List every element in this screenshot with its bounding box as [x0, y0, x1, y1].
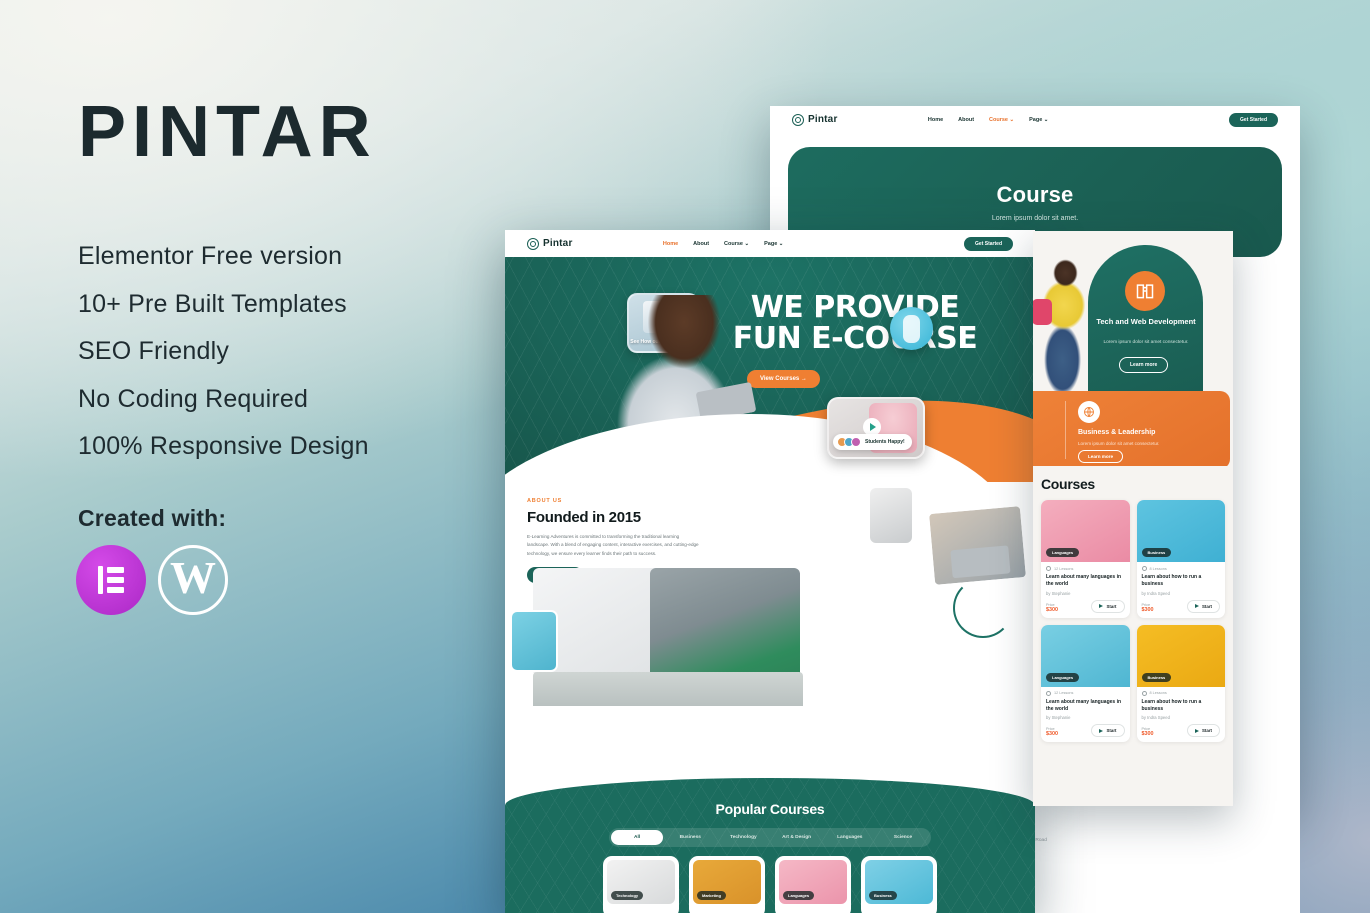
course-lessons: 8 Lessons — [1142, 566, 1221, 571]
course-price: $300 — [1142, 731, 1154, 737]
about-photo-blue-kid — [510, 610, 558, 672]
created-with-logos: W — [76, 545, 228, 615]
course-card[interactable]: Languages 12 Lessons Learn about many la… — [1041, 625, 1130, 743]
start-course-button[interactable]: Start — [1091, 600, 1124, 613]
course-tag: Business — [1142, 673, 1172, 682]
feature-list: Elementor Free version 10+ Pre Built Tem… — [78, 238, 498, 466]
courses-section: Courses Languages 12 Lessons Learn about… — [1033, 466, 1233, 750]
view-courses-button[interactable]: View Courses → — [747, 370, 820, 388]
play-icon — [1099, 604, 1103, 608]
page-title: PINTAR — [78, 96, 498, 168]
site-logo-front[interactable]: Pintar — [527, 238, 573, 250]
site-logo-text: Pintar — [543, 238, 573, 249]
nav-links-front: Home About Course ⌄ Page ⌄ — [663, 241, 784, 247]
tech-category-subtitle: Lorem ipsum dolor sit amet consectetur. — [1088, 339, 1204, 347]
start-course-button[interactable]: Start — [1091, 724, 1124, 737]
lessons-label: 12 Lessons — [1054, 567, 1073, 571]
course-lessons: 8 Lessons — [1142, 691, 1221, 696]
nav-link-course[interactable]: Course ⌄ — [724, 241, 749, 247]
lessons-label: 8 Lessons — [1150, 567, 1167, 571]
students-happy-badge: Students Happy! — [833, 434, 912, 450]
course-tag: Languages — [1046, 548, 1079, 557]
lessons-icon — [1046, 566, 1051, 571]
course-thumbnail: Languages — [1041, 625, 1130, 687]
created-with-label: Created with: — [78, 505, 226, 532]
business-learn-more-button[interactable]: Learn more — [1078, 450, 1123, 463]
course-tag: Technology — [611, 891, 643, 900]
about-photo-kid-laptop — [927, 504, 1028, 587]
course-title: Learn about how to run a business — [1142, 699, 1221, 714]
category-cards-section: Tech and Web Development Lorem ipsum dol… — [1033, 231, 1233, 466]
course-price: $300 — [1142, 607, 1154, 613]
nav-link-home[interactable]: Home — [928, 117, 943, 123]
business-category-card[interactable]: dership sit amet consectetur. Business &… — [1033, 391, 1230, 466]
home-hero-section: WE PROVIDE FUN E-COURSE View Courses → S… — [505, 257, 1035, 482]
students-happy-video-card[interactable]: Students Happy! — [827, 397, 925, 459]
list-item: SEO Friendly — [78, 333, 498, 371]
about-photo-standing — [870, 488, 912, 543]
hero-headline-line2: FUN E-COURSE — [733, 321, 977, 356]
course-thumbnail: Languages — [779, 860, 847, 904]
about-kicker: ABOUT US — [527, 498, 1013, 504]
course-hero-subtitle: Lorem ipsum dolor sit amet. — [992, 215, 1078, 222]
list-item: Elementor Free version — [78, 238, 498, 276]
course-title: Learn about many languages in the world — [1046, 699, 1125, 714]
course-title: Learn about many languages in the world — [1046, 574, 1125, 589]
wordpress-w-glyph: W — [170, 555, 216, 601]
start-label: Start — [1202, 728, 1212, 733]
get-started-button-front[interactable]: Get Started — [964, 237, 1013, 251]
course-price: $300 — [1046, 731, 1058, 737]
list-item: No Coding Required — [78, 381, 498, 419]
book-icon — [1125, 271, 1165, 311]
desk-decoration — [533, 672, 803, 706]
nav-link-page[interactable]: Page ⌄ — [1029, 117, 1048, 123]
course-hero-title: Course — [997, 182, 1074, 208]
mockup-course-detail-right: Tech and Web Development Lorem ipsum dol… — [1033, 231, 1233, 806]
get-started-button-back[interactable]: Get Started — [1229, 113, 1278, 127]
start-label: Start — [1202, 604, 1212, 609]
mockup-home-page-front: Pintar Home About Course ⌄ Page ⌄ Get St… — [505, 230, 1035, 913]
nav-link-about[interactable]: About — [958, 117, 974, 123]
course-card[interactable]: Business 8 Lessons Learn about how to ru… — [1137, 500, 1226, 618]
lessons-label: 8 Lessons — [1150, 691, 1167, 695]
globe-icon — [1078, 401, 1100, 423]
lessons-label: 12 Lessons — [1054, 691, 1073, 695]
start-label: Start — [1106, 604, 1116, 609]
lessons-icon — [1046, 691, 1051, 696]
course-lessons: 12 Lessons — [1046, 691, 1125, 696]
nav-link-course[interactable]: Course ⌄ — [989, 117, 1014, 123]
course-tag: Languages — [1046, 673, 1079, 682]
about-section: ABOUT US Founded in 2015 E-Learning Adve… — [505, 482, 1035, 732]
avatar-group-icon — [837, 437, 861, 447]
courses-heading: Courses — [1041, 476, 1225, 492]
course-author: by Indra Speed — [1142, 591, 1221, 596]
site-logo-back[interactable]: Pintar — [792, 114, 838, 126]
course-tag: Business — [869, 891, 897, 900]
student-photo — [1033, 259, 1100, 399]
course-thumbnail: Marketing — [693, 860, 761, 904]
course-price: $300 — [1046, 607, 1058, 613]
courses-grid: Languages 12 Lessons Learn about many la… — [1041, 500, 1225, 742]
wordpress-logo-icon: W — [158, 545, 228, 615]
pintar-logo-icon — [792, 114, 804, 126]
tech-learn-more-button[interactable]: Learn more — [1119, 357, 1168, 373]
tech-category-title: Tech and Web Development — [1081, 317, 1211, 328]
students-happy-label: Students Happy! — [865, 439, 905, 445]
course-tag: Languages — [783, 891, 814, 900]
about-body: E-Learning Adventures is committed to tr… — [527, 533, 701, 558]
course-author: by Stephanie — [1046, 715, 1125, 720]
popular-courses-section: Popular Courses All Business Technology … — [505, 778, 1035, 913]
nav-link-page[interactable]: Page ⌄ — [764, 241, 783, 247]
course-lessons: 12 Lessons — [1046, 566, 1125, 571]
pintar-logo-icon — [527, 238, 539, 250]
business-category-title: Business & Leadership — [1078, 429, 1155, 436]
nav-link-about[interactable]: About — [693, 241, 709, 247]
play-icon — [1099, 729, 1103, 733]
list-item: 10+ Pre Built Templates — [78, 286, 498, 324]
site-nav-front: Pintar Home About Course ⌄ Page ⌄ Get St… — [505, 230, 1035, 257]
course-title: Learn about how to run a business — [1142, 574, 1221, 589]
play-icon — [1195, 729, 1199, 733]
start-course-button[interactable]: Start — [1187, 724, 1220, 737]
site-logo-text: Pintar — [808, 114, 838, 125]
course-tag: Marketing — [697, 891, 726, 900]
list-item: 100% Responsive Design — [78, 428, 498, 466]
course-author: by Indra Speed — [1142, 715, 1221, 720]
lessons-icon — [1142, 691, 1147, 696]
elementor-logo-icon — [76, 545, 146, 615]
start-course-button[interactable]: Start — [1187, 600, 1220, 613]
ring-decoration — [953, 578, 1013, 638]
business-category-subtitle: Lorem ipsum dolor sit amet consectetur. — [1078, 441, 1159, 446]
course-author: by Stephanie — [1046, 591, 1125, 596]
student-avatar-bubble — [890, 307, 933, 350]
promo-left-panel: PINTAR Elementor Free version 10+ Pre Bu… — [78, 96, 498, 476]
nav-link-home[interactable]: Home — [663, 241, 678, 247]
course-thumbnail: Business — [1137, 625, 1226, 687]
course-thumbnail: Languages — [1041, 500, 1130, 562]
course-tag: Business — [1142, 548, 1172, 557]
popular-network-pattern — [505, 778, 1035, 913]
start-label: Start — [1106, 728, 1116, 733]
course-card[interactable]: Business 8 Lessons Learn about how to ru… — [1137, 625, 1226, 743]
course-card[interactable]: Languages 12 Lessons Learn about many la… — [1041, 500, 1130, 618]
course-thumbnail: Technology — [607, 860, 675, 904]
nav-links-back: Home About Course ⌄ Page ⌄ — [928, 117, 1049, 123]
course-thumbnail: Business — [865, 860, 933, 904]
card-divider — [1065, 401, 1066, 459]
lessons-icon — [1142, 566, 1147, 571]
site-nav-back: Pintar Home About Course ⌄ Page ⌄ Get St… — [770, 106, 1300, 133]
play-icon — [1195, 604, 1199, 608]
course-thumbnail: Business — [1137, 500, 1226, 562]
